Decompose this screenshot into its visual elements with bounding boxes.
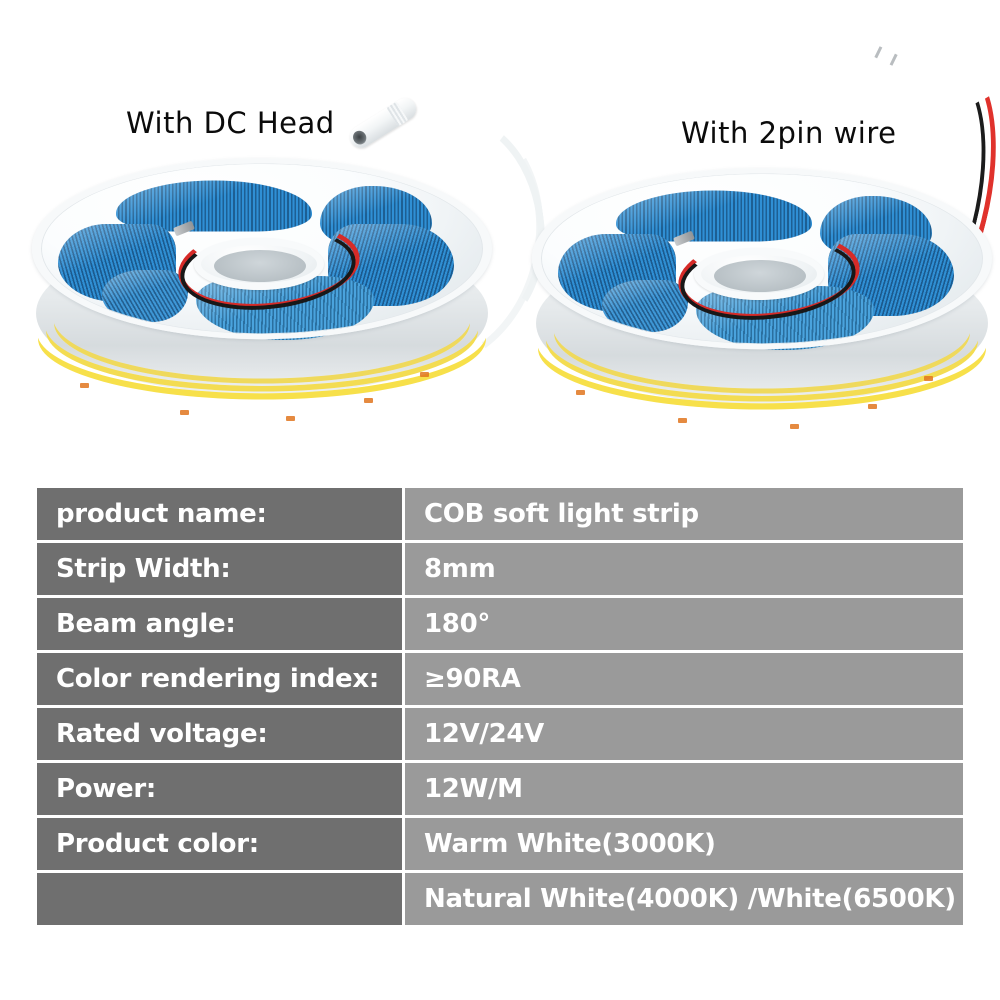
table-row: product name: COB soft light strip [37, 488, 963, 543]
right-reel-caption: With 2pin wire [681, 116, 896, 150]
spec-label: Strip Width: [37, 543, 405, 598]
spec-label: Product color: [37, 818, 405, 873]
strip-cut-mark [286, 416, 295, 421]
bare-wire-ends-icon [874, 46, 897, 66]
table-row: Color rendering index: ≥90RA [37, 653, 963, 708]
table-row: Power: 12W/M [37, 763, 963, 818]
strip-cut-mark [364, 398, 373, 403]
specification-table-body: product name: COB soft light strip Strip… [37, 488, 963, 925]
strip-cut-mark [420, 372, 429, 377]
table-row: Beam angle: 180° [37, 598, 963, 653]
spec-label: Rated voltage: [37, 708, 405, 763]
strip-cut-mark [576, 390, 585, 395]
spec-label-empty [37, 873, 405, 925]
spec-value: COB soft light strip [405, 488, 963, 543]
spec-value: 180° [405, 598, 963, 653]
spec-value: Warm White(3000K) [405, 818, 963, 873]
product-photo-area: With DC Head With 2pin wire [0, 0, 1000, 470]
spec-value: 12V/24V [405, 708, 963, 763]
spec-label: Color rendering index: [37, 653, 405, 708]
table-row: Product color: Warm White(3000K) [37, 818, 963, 873]
spec-label: Power: [37, 763, 405, 818]
strip-cut-mark [678, 418, 687, 423]
spec-label: product name: [37, 488, 405, 543]
table-row: Strip Width: 8mm [37, 543, 963, 598]
strip-cut-mark [924, 376, 933, 381]
spec-value: 8mm [405, 543, 963, 598]
table-row: Natural White(4000K) /White(6500K) [37, 873, 963, 925]
spec-value: Natural White(4000K) /White(6500K) [405, 873, 963, 925]
spec-value: ≥90RA [405, 653, 963, 708]
left-reel-caption: With DC Head [126, 106, 335, 140]
specification-table: product name: COB soft light strip Strip… [37, 488, 963, 925]
spec-value: 12W/M [405, 763, 963, 818]
strip-cut-mark [80, 383, 89, 388]
table-row: Rated voltage: 12V/24V [37, 708, 963, 763]
led-strip-reel-2pin-wire [528, 168, 998, 468]
strip-cut-mark [790, 424, 799, 429]
led-strip-reel-dc-head [28, 158, 498, 458]
strip-cut-mark [868, 404, 877, 409]
spec-label: Beam angle: [37, 598, 405, 653]
strip-cut-mark [180, 410, 189, 415]
